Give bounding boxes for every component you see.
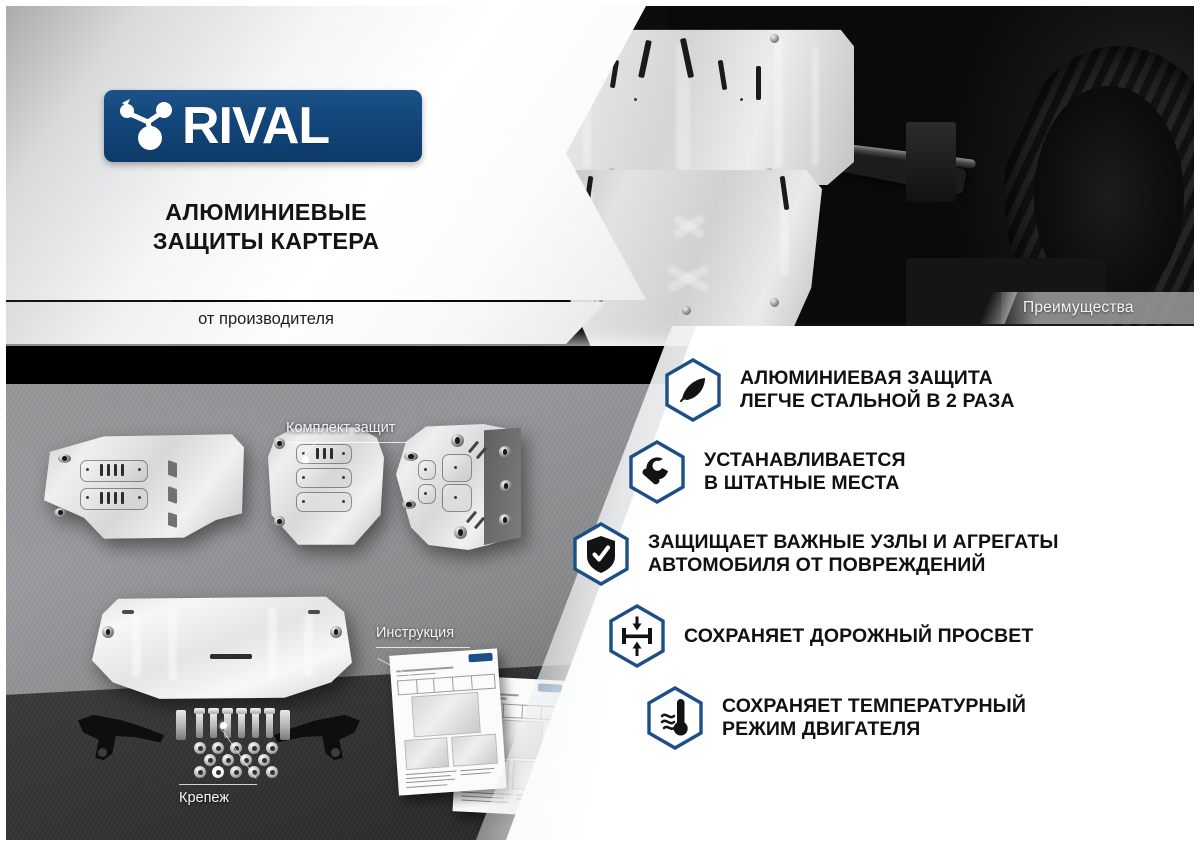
bracket-right — [906, 122, 956, 202]
feature-line1: УСТАНАВЛИВАЕТСЯ — [704, 449, 906, 471]
instruction-callout-label: Инструкция — [376, 625, 454, 641]
feature-line1: СОХРАНЯЕТ ДОРОЖНЫЙ ПРОСВЕТ — [684, 625, 1033, 647]
wrench-icon — [628, 440, 686, 504]
feature-text-clearance: СОХРАНЯЕТ ДОРОЖНЫЙ ПРОСВЕТ — [684, 625, 1033, 648]
skid-plate-part-3 — [396, 424, 521, 550]
feature-text-temperature: СОХРАНЯЕТ ТЕМПЕРАТУРНЫЙ РЕЖИМ ДВИГАТЕЛЯ — [722, 695, 1026, 740]
feature-line2: РЕЖИМ ДВИГАТЕЛЯ — [722, 718, 1026, 741]
features-list: АЛЮМИНИЕВАЯ ЗАЩИТА ЛЕГЧЕ СТАЛЬНОЙ В 2 РА… — [620, 358, 1180, 768]
feature-text-weight: АЛЮМИНИЕВАЯ ЗАЩИТА ЛЕГЧЕ СТАЛЬНОЙ В 2 РА… — [740, 367, 1015, 412]
feature-line2: ЛЕГЧЕ СТАЛЬНОЙ В 2 РАЗА — [740, 390, 1015, 413]
feature-line1: АЛЮМИНИЕВАЯ ЗАЩИТА — [740, 367, 993, 389]
feature-item-weight: АЛЮМИНИЕВАЯ ЗАЩИТА ЛЕГЧЕ СТАЛЬНОЙ В 2 РА… — [664, 358, 1180, 422]
rival-molecule-icon — [118, 97, 180, 155]
feature-line1: ЗАЩИЩАЕТ ВАЖНЫЕ УЗЛЫ И АГРЕГАТЫ — [648, 531, 1059, 553]
fasteners-callout: Крепеж — [179, 790, 229, 806]
page-title: АЛЮМИНИЕВЫЕ ЗАЩИТЫ КАРТЕРА — [6, 198, 526, 255]
rival-wordmark: RIVAL — [182, 100, 329, 152]
feature-item-clearance: СОХРАНЯЕТ ДОРОЖНЫЙ ПРОСВЕТ — [608, 604, 1180, 668]
headline-line2: ЗАЩИТЫ КАРТЕРА — [6, 227, 526, 256]
instruction-callout: Инструкция — [376, 625, 454, 641]
feature-text-installation: УСТАНАВЛИВАЕТСЯ В ШТАТНЫЕ МЕСТА — [704, 449, 906, 494]
feature-item-installation: УСТАНАВЛИВАЕТСЯ В ШТАТНЫЕ МЕСТА — [628, 440, 1180, 504]
feature-text-protection: ЗАЩИЩАЕТ ВАЖНЫЕ УЗЛЫ И АГРЕГАТЫ АВТОМОБИ… — [648, 531, 1059, 576]
frame-bottom — [0, 840, 1200, 848]
banner-stage: Преимущества — [6, 6, 1194, 840]
kit-callout-label: Комплект защит — [286, 420, 395, 436]
skid-plate-part-4 — [92, 590, 352, 700]
fasteners-callout-dot — [220, 722, 227, 729]
fasteners-group — [176, 706, 296, 776]
rival-logo: RIVAL — [104, 90, 422, 162]
fasteners-callout-label: Крепеж — [179, 790, 229, 806]
frame-right — [1194, 0, 1200, 848]
bracket-left-shape — [78, 714, 164, 760]
feature-line1: СОХРАНЯЕТ ТЕМПЕРАТУРНЫЙ — [722, 695, 1026, 717]
advantages-tag-label: Преимущества — [1023, 299, 1134, 317]
headline-line1: АЛЮМИНИЕВЫЕ — [6, 198, 526, 227]
feature-line2: В ШТАТНЫЕ МЕСТА — [704, 472, 906, 495]
ground-clearance-icon — [608, 604, 666, 668]
feature-item-protection: ЗАЩИЩАЕТ ВАЖНЫЕ УЗЛЫ И АГРЕГАТЫ АВТОМОБИ… — [572, 522, 1180, 586]
divider-black-band — [6, 346, 706, 384]
kit-callout-dot — [302, 456, 309, 463]
feature-line2: АВТОМОБИЛЯ ОТ ПОВРЕЖДЕНИЙ — [648, 554, 1059, 577]
skid-plate-part-1 — [44, 432, 244, 542]
subtitle: от производителя — [6, 310, 526, 329]
rival-skid-plate-banner: Преимущества — [0, 0, 1200, 848]
instruction-sheet-front — [389, 648, 507, 795]
skid-plate-part-2 — [268, 426, 384, 546]
feature-item-temperature: СОХРАНЯЕТ ТЕМПЕРАТУРНЫЙ РЕЖИМ ДВИГАТЕЛЯ — [646, 686, 1180, 750]
leaf-icon — [664, 358, 722, 422]
sheet-logo-front — [468, 653, 492, 662]
advantages-tag: Преимущества — [1001, 292, 1194, 324]
shield-check-icon — [572, 522, 630, 586]
kit-callout: Комплект защит — [286, 420, 395, 436]
thermometer-icon — [646, 686, 704, 750]
